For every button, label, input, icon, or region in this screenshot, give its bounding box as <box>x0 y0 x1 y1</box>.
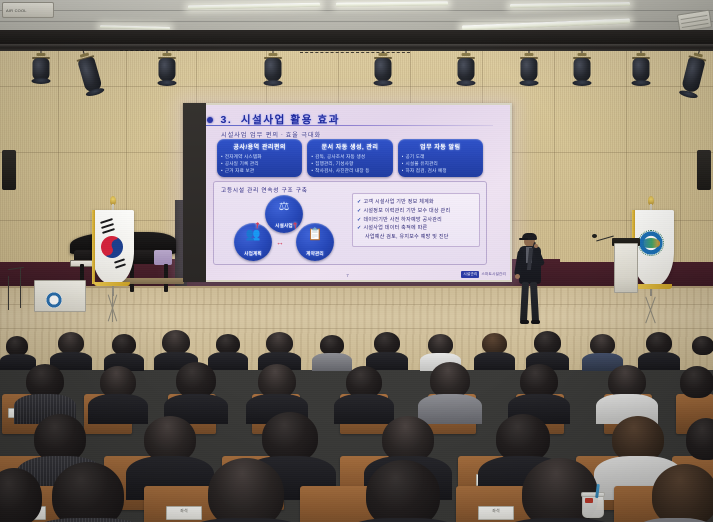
audience-head <box>374 332 400 354</box>
audience-shoulders <box>638 352 680 370</box>
slide-title-row: 3. 시설사업 활용 효과 <box>207 111 500 129</box>
stage-light <box>571 48 593 84</box>
presenter-legs <box>521 282 539 324</box>
presentation-slide: 3. 시설사업 활용 효과 시설사업 업무 편의ㆍ효율 극대화 공사/용역 관리… <box>185 105 510 280</box>
slide-footer: 시설관리 스마트시설관리 <box>461 271 506 278</box>
presenter-leg <box>530 282 539 322</box>
title-underline <box>205 125 493 126</box>
audience-head <box>680 366 713 398</box>
slide-lower-panel: 고등시설 관리 연속성 구조 구축 ⚖ 시설사업 👥 사업계획 📋 계약관리 ↗ <box>213 181 487 265</box>
title-bullet-icon <box>207 117 213 123</box>
audience-head <box>482 333 507 354</box>
list-item: ✓고객 시설사업 기반 정보 체계화 <box>357 198 475 207</box>
seat-namecard-label: 좌석 <box>167 508 201 514</box>
diagram-node-label: 사업계획 <box>234 251 272 257</box>
screen-left-dark-panel <box>183 103 206 282</box>
seat-namecard: 좌석 <box>478 506 514 520</box>
seat-namecard-label: 좌석 <box>479 508 513 514</box>
benefit-box-title: 공사/용역 관리편의 <box>221 142 298 151</box>
cup-label <box>585 498 593 503</box>
benefit-box: 공사/용역 관리편의 전자계약 시스템화 공사일 기록 관리 근거 자료 보관 <box>217 139 302 177</box>
audience-head <box>686 418 713 460</box>
auditorium-photo: AIR COOL <box>0 0 713 522</box>
emblem-ring <box>638 230 664 256</box>
list-item-label: 사업예산 검토, 유지보수 예방 및 진단 <box>365 234 449 240</box>
audience-shoulders <box>418 394 482 424</box>
seat-namecard: 좌석 <box>166 506 202 520</box>
benefit-item: 공기 도래 <box>402 153 479 160</box>
benefit-item: 전자계약 시스템화 <box>221 153 298 160</box>
benefit-item: 공사일 기록 관리 <box>221 160 298 167</box>
lighting-truss <box>0 44 713 51</box>
stage-light <box>455 48 477 84</box>
audience-head <box>534 331 561 354</box>
flag-stand-leg <box>112 294 113 322</box>
audience-head <box>208 458 284 522</box>
audience-head <box>692 336 713 355</box>
audience-head <box>652 464 713 522</box>
slide-subtitle: 시설사업 업무 편의ㆍ효율 극대화 <box>221 130 321 139</box>
check-icon: ✓ <box>357 199 362 205</box>
audience-head <box>590 334 615 355</box>
audience-head <box>496 414 550 462</box>
audience-head <box>216 334 240 354</box>
audience-shoulders <box>334 394 394 424</box>
benefit-item: 감독, 공사조서 자동 생성 <box>311 153 388 160</box>
benefit-box-title: 업무 자동 알림 <box>402 142 479 151</box>
audience-shoulders <box>88 394 148 424</box>
stage-light <box>262 48 284 84</box>
stage-light <box>30 48 52 82</box>
audience-head <box>430 362 470 398</box>
mic-stand <box>8 276 9 310</box>
audience-head <box>646 332 672 354</box>
list-item: ✓시설사업 데이터 축적에 따른 <box>357 224 475 233</box>
slide-bullet-list: ✓고객 시설사업 기반 정보 체계화 ✓시설정보 이력관리 기반 보수 대상 관… <box>352 193 480 247</box>
check-icon: ✓ <box>357 225 362 231</box>
cycle-diagram: ⚖ 시설사업 👥 사업계획 📋 계약관리 ↗ ↖ ↔ <box>226 195 342 261</box>
benefit-item: 시설물 유지관리 <box>402 160 479 167</box>
audience-head <box>58 332 84 354</box>
list-item-label: 시설정보 이력관리 기반 보수 대상 관리 <box>364 208 451 214</box>
arrow-icon: ↔ <box>276 238 284 247</box>
institution-emblem <box>638 230 664 256</box>
audience-shoulders <box>474 352 515 370</box>
audience-head <box>366 460 440 522</box>
audience-head <box>266 332 293 354</box>
audience-head <box>112 334 136 355</box>
benefit-item: 하자 점검, 검사 예정 <box>402 167 479 174</box>
presenter <box>514 232 546 328</box>
benefit-box-row: 공사/용역 관리편의 전자계약 시스템화 공사일 기록 관리 근거 자료 보관 … <box>217 139 483 177</box>
people-icon: 👥 <box>234 228 272 240</box>
diagram-node-plan: 👥 사업계획 <box>234 223 272 261</box>
list-item-label: 고객 시설사업 기반 정보 체계화 <box>364 199 434 205</box>
drink-cup <box>582 488 604 518</box>
mic-stand <box>20 268 21 308</box>
ceiling-unit-label: AIR COOL <box>6 8 27 13</box>
presenter-shoe <box>531 320 540 324</box>
benefit-box-title: 문서 자동 생성, 관리 <box>311 142 388 151</box>
benefit-item: 착사검사, 사진관리 내장 등 <box>311 167 388 174</box>
audience-head <box>34 414 86 462</box>
stage-light <box>518 48 540 84</box>
cup-lid <box>581 492 605 497</box>
presenter-hand <box>534 244 538 248</box>
audience-head <box>26 364 64 398</box>
projection-screen: 3. 시설사업 활용 효과 시설사업 업무 편의ㆍ효율 극대화 공사/용역 관리… <box>183 103 512 282</box>
audience-head <box>262 412 318 462</box>
flag-fringe <box>94 282 130 286</box>
audience-shoulders <box>0 354 36 370</box>
audience-head <box>520 364 558 398</box>
list-item-label: 데이터기반 사전 하자예방 공사관리 <box>364 217 443 223</box>
list-item: ✓데이터기반 사전 하자예방 공사관리 <box>357 216 475 225</box>
audience-head <box>176 362 216 398</box>
lower-panel-heading: 고등시설 관리 연속성 구조 구축 <box>221 186 308 194</box>
clipboard-icon: 📋 <box>296 228 334 240</box>
check-icon: ✓ <box>357 208 362 214</box>
footer-badge: 시설관리 <box>461 271 479 278</box>
korean-flag <box>88 196 138 314</box>
side-table-emblem <box>46 292 62 308</box>
diagram-node-contract: 📋 계약관리 <box>296 223 334 261</box>
footer-text: 스마트시설관리 <box>481 272 506 277</box>
crane-icon: ⚖ <box>265 200 303 212</box>
presenter-cap-brim <box>519 238 528 240</box>
list-item: 사업예산 검토, 유지보수 예방 및 진단 <box>357 233 475 242</box>
benefit-item: 근거 자료 보관 <box>221 167 298 174</box>
audience-shoulders <box>312 353 352 371</box>
benefit-item: 집행관리, 기성사항 <box>311 160 388 167</box>
benefit-box: 업무 자동 알림 공기 도래 시설물 유지관리 하자 점검, 검사 예정 <box>398 139 483 177</box>
check-icon: ✓ <box>357 217 362 223</box>
flag-fringe <box>634 284 672 289</box>
lectern-mic-head <box>592 234 597 238</box>
audience: 좌석 좌석 좌석 좌석 <box>0 330 713 522</box>
ceiling-projector-housing: AIR COOL <box>2 2 54 18</box>
diagram-node-label: 계약관리 <box>296 251 334 257</box>
piano-cover-cloth <box>154 250 172 265</box>
flag-gold-trim <box>92 210 95 284</box>
audience-head <box>162 330 190 354</box>
benefit-box: 문서 자동 생성, 관리 감독, 공사조서 자동 생성 집행관리, 기성사항 착… <box>307 139 392 177</box>
audience-head <box>258 364 296 398</box>
list-item: ✓시설정보 이력관리 기반 보수 대상 관리 <box>357 207 475 216</box>
slide-page-number: 7 <box>346 273 349 278</box>
wall-shadow-band <box>0 30 713 44</box>
presenter-hand <box>515 274 520 279</box>
speaker-right <box>697 150 711 190</box>
lectern <box>614 243 638 293</box>
audience-shoulders <box>208 352 248 370</box>
list-item-label: 시설사업 데이터 축적에 따른 <box>364 225 428 231</box>
audience-head <box>52 462 124 522</box>
presenter-shoe <box>520 320 529 324</box>
slide-title-number: 3. <box>220 114 232 126</box>
audience-head <box>6 336 28 356</box>
presenter-leg <box>520 282 529 322</box>
audience-head <box>428 334 453 355</box>
stage-light <box>630 48 652 84</box>
audience-head <box>320 335 344 355</box>
stage-light <box>156 48 178 84</box>
speaker-left <box>2 150 16 190</box>
stage-light <box>372 48 394 84</box>
